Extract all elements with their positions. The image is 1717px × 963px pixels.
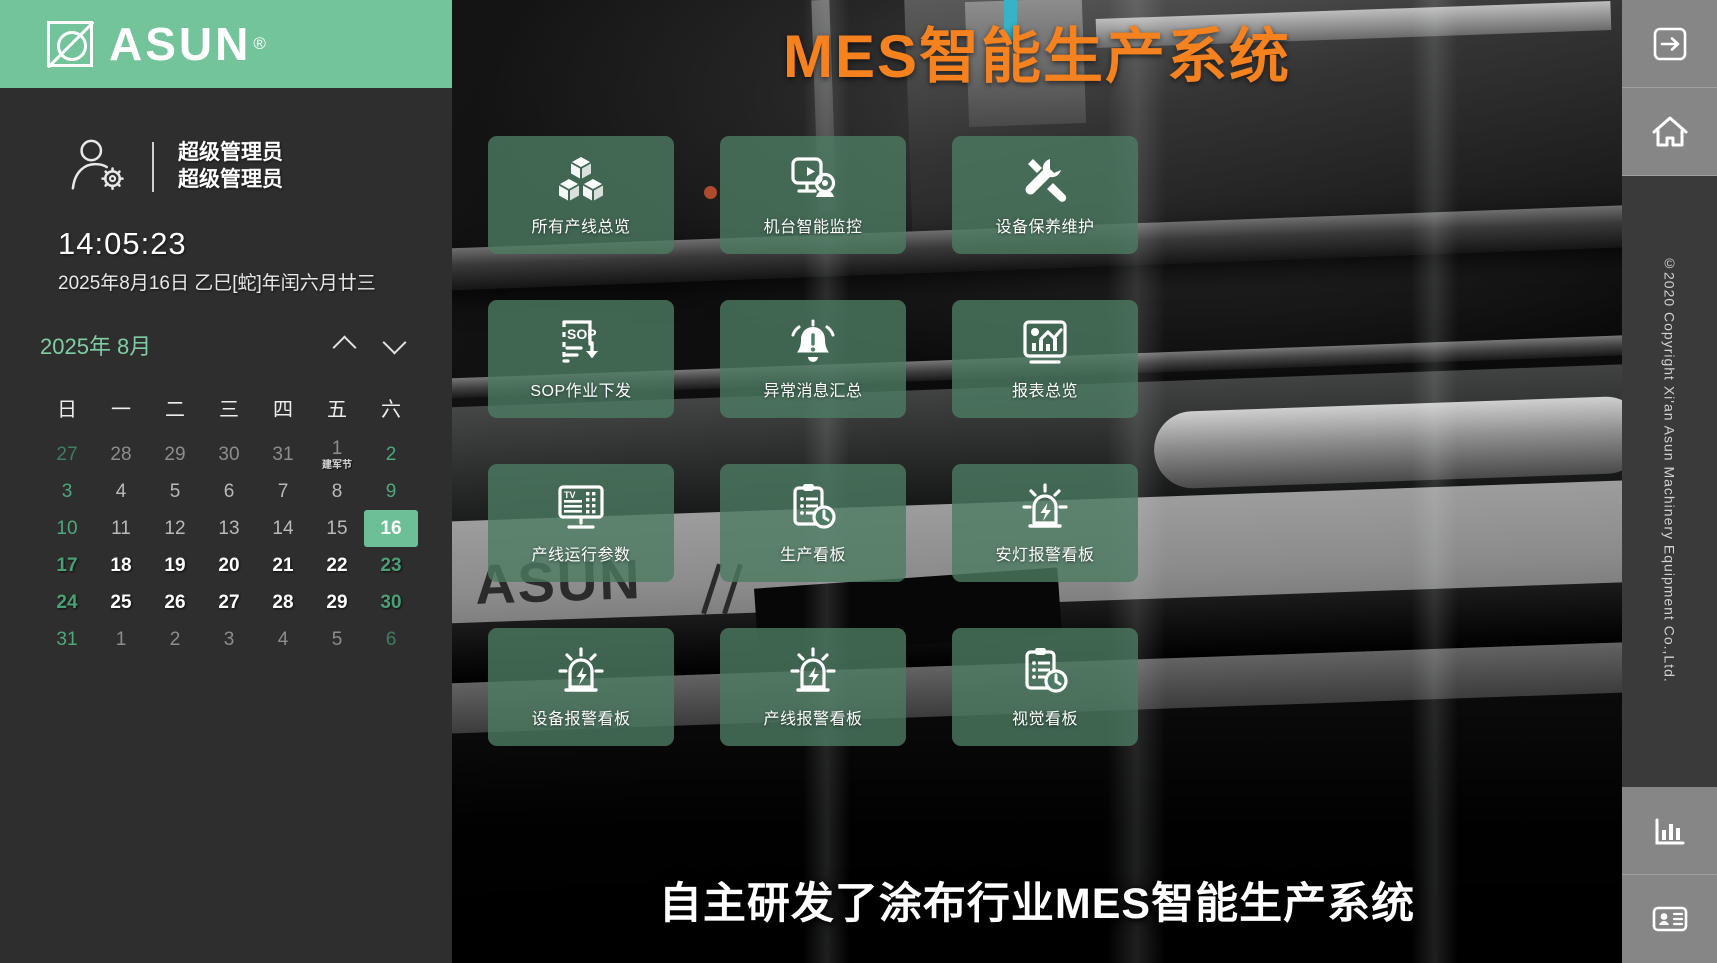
calendar-day[interactable]: 4 [94, 473, 148, 510]
calendar-day-number: 13 [218, 519, 239, 538]
calendar-title: 2025年 8月 [40, 329, 151, 361]
andon-light-icon [555, 645, 607, 697]
calendar-day-number: 12 [164, 519, 185, 538]
calendar-dow-5: 五 [310, 383, 364, 436]
calendar-day-number: 21 [272, 556, 293, 575]
calendar-day[interactable]: 6 [364, 621, 418, 658]
calendar-dow-0: 日 [40, 383, 94, 436]
menu-tile-8[interactable]: 生产看板 [720, 464, 906, 582]
bar-chart-icon [1649, 810, 1691, 852]
menu-tile-11[interactable]: 产线报警看板 [720, 628, 906, 746]
calendar-day[interactable]: 29 [148, 436, 202, 473]
calendar-day-number: 16 [380, 519, 401, 538]
calendar-day-number: 29 [164, 445, 185, 464]
calendar-day-number: 2 [170, 630, 181, 649]
clipboard-clock-icon [1019, 645, 1071, 697]
report-chart-icon [1019, 317, 1071, 369]
menu-tile-10[interactable]: 设备报警看板 [488, 628, 674, 746]
user-card-button[interactable] [1622, 875, 1717, 963]
menu-tile-9[interactable]: 安灯报警看板 [952, 464, 1138, 582]
menu-tile-4[interactable]: SOPSOP作业下发 [488, 300, 674, 418]
calendar-day-today[interactable]: 16 [364, 510, 418, 547]
copyright-block: ©2020 Copyright Xi'an Asun Machinery Equ… [1622, 255, 1717, 815]
calendar-day-number: 18 [110, 556, 131, 575]
user-identity: 超级管理员 超级管理员 [178, 140, 283, 194]
calendar-dow-2: 二 [148, 383, 202, 436]
clock-time: 14:05:23 [58, 226, 452, 262]
calendar-day[interactable]: 1 [94, 621, 148, 658]
monitor-camera-icon [787, 153, 839, 205]
calendar-day[interactable]: 11 [94, 510, 148, 547]
user-divider [152, 142, 154, 192]
id-card-icon [1649, 898, 1691, 940]
calendar-day[interactable]: 2 [148, 621, 202, 658]
calendar-day-number: 29 [326, 593, 347, 612]
menu-tile-label: SOP作业下发 [530, 377, 631, 401]
right-rail: ©2020 Copyright Xi'an Asun Machinery Equ… [1622, 0, 1717, 963]
user-name: 超级管理员 [178, 167, 283, 194]
calendar-day-number: 28 [272, 593, 293, 612]
calendar-day[interactable]: 28 [94, 436, 148, 473]
menu-tile-label: 设备报警看板 [531, 705, 630, 729]
calendar-day-number: 20 [218, 556, 239, 575]
calendar-day[interactable]: 15 [310, 510, 364, 547]
menu-tile-6[interactable]: 报表总览 [952, 300, 1138, 418]
calendar-day[interactable]: 29 [310, 584, 364, 621]
tv-board-icon: TV [555, 481, 607, 533]
calendar-day-number: 7 [278, 482, 289, 501]
logout-arrow-icon [1649, 23, 1691, 65]
calendar-day[interactable]: 25 [94, 584, 148, 621]
calendar-day-number: 30 [218, 445, 239, 464]
calendar-day-number: 28 [110, 445, 131, 464]
menu-tile-label: 异常消息汇总 [763, 377, 862, 401]
chevron-down-icon[interactable] [382, 332, 408, 358]
menu-tile-label: 产线运行参数 [531, 541, 630, 565]
main-stage: ASUN MES智能生产系统 所有产线总览机台智能监控设备保养维护SOPSOP作… [452, 0, 1622, 963]
calendar-day-number: 4 [116, 482, 127, 501]
calendar-day-number: 1 [332, 439, 343, 458]
calendar-day-number: 5 [170, 482, 181, 501]
calendar-day-number: 6 [224, 482, 235, 501]
menu-tile-2[interactable]: 机台智能监控 [720, 136, 906, 254]
calendar-day-number: 24 [56, 593, 77, 612]
menu-tile-5[interactable]: 异常消息汇总 [720, 300, 906, 418]
user-role: 超级管理员 [178, 140, 283, 167]
wrench-hammer-icon [1019, 153, 1071, 205]
calendar-day[interactable]: 5 [310, 621, 364, 658]
calendar-grid: 日一二三四五六27282930311建军节2345678910111213141… [40, 383, 418, 658]
calendar-dow-3: 三 [202, 383, 256, 436]
calendar-day[interactable]: 23 [364, 547, 418, 584]
calendar-dow-1: 一 [94, 383, 148, 436]
calendar-day[interactable]: 26 [148, 584, 202, 621]
calendar-day[interactable]: 14 [256, 510, 310, 547]
calendar-day-number: 15 [326, 519, 347, 538]
menu-tile-1[interactable]: 所有产线总览 [488, 136, 674, 254]
calendar-day[interactable]: 27 [40, 436, 94, 473]
calendar: 2025年 8月 日一二三四五六27282930311建军节2345678910… [40, 329, 418, 658]
calendar-day-number: 30 [380, 593, 401, 612]
clipboard-clock-icon [787, 481, 839, 533]
calendar-day[interactable]: 21 [256, 547, 310, 584]
calendar-day-number: 27 [56, 445, 77, 464]
calendar-day-number: 10 [56, 519, 77, 538]
calendar-day[interactable]: 22 [310, 547, 364, 584]
menu-tile-label: 产线报警看板 [763, 705, 862, 729]
calendar-day-number: 31 [56, 630, 77, 649]
calendar-day[interactable]: 18 [94, 547, 148, 584]
calendar-day[interactable]: 31 [256, 436, 310, 473]
page-title: MES智能生产系统 [452, 8, 1622, 95]
calendar-day-number: 11 [111, 519, 131, 538]
svg-text:SOP: SOP [567, 326, 597, 342]
calendar-day-number: 6 [386, 630, 397, 649]
calendar-day-number: 17 [56, 556, 77, 575]
clock-date: 2025年8月16日 乙巳[蛇]年闰六月廿三 [58, 268, 452, 295]
app-root: ASUN ® 超级管理 [0, 0, 1717, 963]
rail-top-buttons [1622, 0, 1717, 176]
calendar-day-number: 22 [326, 556, 347, 575]
menu-tile-7[interactable]: TV产线运行参数 [488, 464, 674, 582]
clock-block: 14:05:23 2025年8月16日 乙巳[蛇]年闰六月廿三 [0, 196, 452, 295]
calendar-day[interactable]: 2 [364, 436, 418, 473]
calendar-day[interactable]: 3 [202, 621, 256, 658]
boxes-icon [555, 153, 607, 205]
menu-tile-label: 设备保养维护 [995, 213, 1094, 237]
calendar-day[interactable]: 5 [148, 473, 202, 510]
menu-tile-label: 所有产线总览 [531, 213, 630, 237]
calendar-day[interactable]: 4 [256, 621, 310, 658]
copyright-text: ©2020 Copyright Xi'an Asun Machinery Equ… [1662, 255, 1678, 683]
calendar-day[interactable]: 8 [310, 473, 364, 510]
calendar-dow-6: 六 [364, 383, 418, 436]
sop-download-icon: SOP [555, 317, 607, 369]
menu-tile-label: 视觉看板 [1012, 705, 1078, 729]
calendar-day-number: 3 [62, 482, 73, 501]
rail-bottom-buttons [1622, 787, 1717, 963]
menu-tile-grid: 所有产线总览机台智能监控设备保养维护SOPSOP作业下发异常消息汇总报表总览TV… [488, 136, 1171, 746]
left-panel: ASUN ® 超级管理 [0, 0, 452, 963]
calendar-day[interactable]: 28 [256, 584, 310, 621]
calendar-dow-4: 四 [256, 383, 310, 436]
calendar-day-number: 23 [380, 556, 401, 575]
calendar-day[interactable]: 19 [148, 547, 202, 584]
alarm-bell-icon [787, 317, 839, 369]
calendar-day-number: 2 [386, 445, 397, 464]
chevron-up-icon[interactable] [332, 332, 358, 358]
logout-button[interactable] [1622, 0, 1717, 88]
calendar-day-number: 25 [110, 593, 131, 612]
calendar-header: 2025年 8月 [40, 329, 418, 361]
asun-logo-icon [47, 21, 93, 67]
calendar-day[interactable]: 13 [202, 510, 256, 547]
calendar-day[interactable]: 27 [202, 584, 256, 621]
home-icon [1649, 111, 1691, 153]
calendar-day[interactable]: 1建军节 [310, 436, 364, 473]
calendar-day-number: 4 [278, 630, 289, 649]
calendar-day[interactable]: 30 [364, 584, 418, 621]
calendar-day[interactable]: 6 [202, 473, 256, 510]
user-block[interactable]: 超级管理员 超级管理员 [0, 88, 452, 196]
calendar-festival-label: 建军节 [322, 461, 352, 471]
menu-tile-label: 安灯报警看板 [995, 541, 1094, 565]
calendar-day-number: 31 [272, 445, 293, 464]
calendar-day[interactable]: 7 [256, 473, 310, 510]
menu-tile-label: 机台智能监控 [763, 213, 862, 237]
brand-name: ASUN [109, 21, 251, 67]
video-subtitle: 自主研发了涂布行业MES智能生产系统 [452, 869, 1622, 931]
calendar-day[interactable]: 20 [202, 547, 256, 584]
brand-bar: ASUN ® [0, 0, 452, 88]
menu-tile-label: 生产看板 [780, 541, 846, 565]
calendar-day-number: 27 [218, 593, 239, 612]
chart-button[interactable] [1622, 787, 1717, 875]
calendar-day[interactable]: 10 [40, 510, 94, 547]
calendar-day-number: 26 [164, 593, 185, 612]
calendar-day[interactable]: 9 [364, 473, 418, 510]
andon-light-icon [787, 645, 839, 697]
andon-light-icon [1019, 481, 1071, 533]
brand-registered-mark: ® [253, 34, 266, 54]
svg-text:TV: TV [564, 490, 576, 500]
calendar-day[interactable]: 24 [40, 584, 94, 621]
calendar-day-number: 8 [332, 482, 343, 501]
calendar-day[interactable]: 31 [40, 621, 94, 658]
calendar-nav [332, 332, 418, 358]
menu-tile-12[interactable]: 视觉看板 [952, 628, 1138, 746]
calendar-day[interactable]: 3 [40, 473, 94, 510]
calendar-day[interactable]: 12 [148, 510, 202, 547]
calendar-day[interactable]: 17 [40, 547, 94, 584]
home-button[interactable] [1622, 88, 1717, 176]
calendar-day-number: 19 [164, 556, 185, 575]
calendar-day-number: 14 [272, 519, 293, 538]
calendar-day-number: 5 [332, 630, 343, 649]
menu-tile-label: 报表总览 [1012, 377, 1078, 401]
menu-tile-3[interactable]: 设备保养维护 [952, 136, 1138, 254]
calendar-day-number: 3 [224, 630, 235, 649]
calendar-day[interactable]: 30 [202, 436, 256, 473]
user-settings-icon [68, 138, 130, 196]
calendar-day-number: 1 [116, 630, 127, 649]
photo-light-streak-3 [1411, 0, 1458, 963]
calendar-day-number: 9 [386, 482, 397, 501]
